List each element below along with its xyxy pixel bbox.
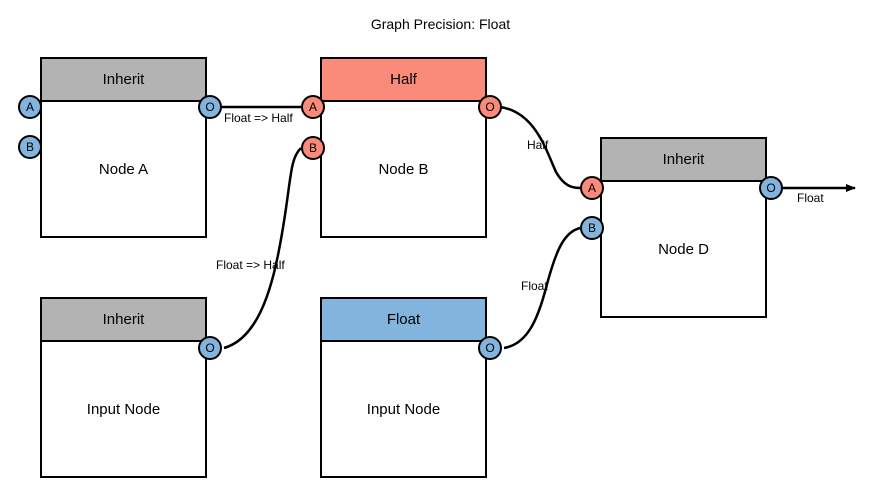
edge-label-inputleft-to-b-b: Float => Half <box>216 259 285 271</box>
edge-label-a-to-b-a: Float => Half <box>224 112 293 124</box>
edge-label-b-to-d-a: Half <box>527 139 548 151</box>
node-a-output-port-o[interactable]: O <box>198 95 222 119</box>
node-b-output-port-o[interactable]: O <box>478 95 502 119</box>
graph-canvas: Graph Precision: Float Inherit Node A A … <box>0 0 881 504</box>
edge-label-d-output: Float <box>797 192 824 204</box>
edge-label-inputmid-to-d-b: Float <box>521 280 548 292</box>
input-node-left-body: Input Node <box>42 342 205 476</box>
node-node-d[interactable]: Inherit Node D <box>600 137 767 318</box>
input-node-middle-output-port-o[interactable]: O <box>478 336 502 360</box>
input-node-middle-header: Float <box>322 299 485 342</box>
node-d-input-port-b[interactable]: B <box>580 216 604 240</box>
edge-path-inputleft-to-b-b <box>224 148 301 348</box>
input-node-middle-body: Input Node <box>322 342 485 476</box>
node-input-node-middle[interactable]: Float Input Node <box>320 297 487 478</box>
node-a-input-port-a[interactable]: A <box>18 95 42 119</box>
node-a-body: Node A <box>42 102 205 236</box>
node-d-header: Inherit <box>602 139 765 182</box>
node-a-input-port-b[interactable]: B <box>18 135 42 159</box>
node-d-body: Node D <box>602 182 765 316</box>
input-node-left-output-port-o[interactable]: O <box>198 336 222 360</box>
node-input-node-left[interactable]: Inherit Input Node <box>40 297 207 478</box>
node-b-input-port-a[interactable]: A <box>301 95 325 119</box>
node-b-body: Node B <box>322 102 485 236</box>
input-node-left-header: Inherit <box>42 299 205 342</box>
node-node-a[interactable]: Inherit Node A <box>40 57 207 238</box>
node-b-header: Half <box>322 59 485 102</box>
node-d-input-port-a[interactable]: A <box>580 176 604 200</box>
node-d-output-port-o[interactable]: O <box>759 176 783 200</box>
node-b-input-port-b[interactable]: B <box>301 136 325 160</box>
node-a-header: Inherit <box>42 59 205 102</box>
node-node-b[interactable]: Half Node B <box>320 57 487 238</box>
